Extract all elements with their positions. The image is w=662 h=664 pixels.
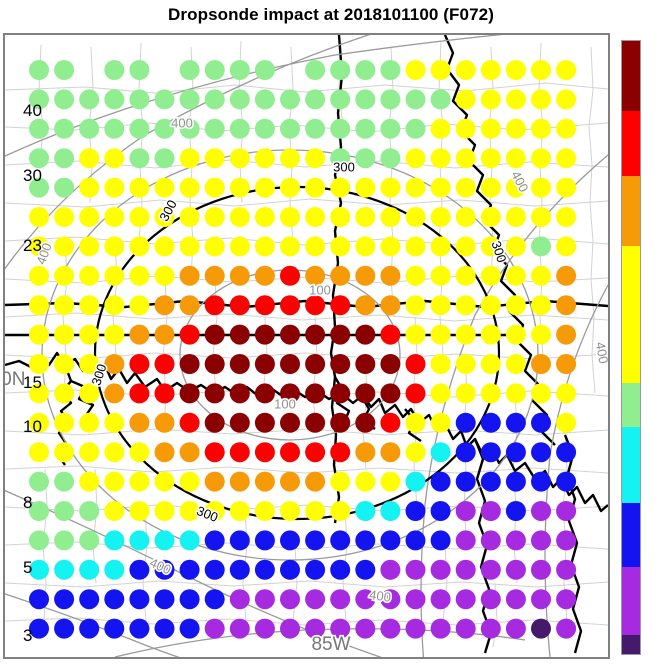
impact-marker[interactable]	[205, 295, 225, 315]
impact-marker[interactable]	[255, 266, 275, 286]
impact-marker[interactable]	[406, 413, 426, 433]
impact-marker[interactable]	[456, 472, 476, 492]
impact-marker[interactable]	[129, 119, 149, 139]
impact-marker[interactable]	[155, 413, 175, 433]
impact-marker[interactable]	[54, 60, 74, 80]
impact-marker[interactable]	[330, 89, 350, 109]
impact-marker[interactable]	[205, 530, 225, 550]
impact-marker[interactable]	[104, 236, 124, 256]
impact-marker[interactable]	[280, 619, 300, 639]
impact-marker[interactable]	[380, 89, 400, 109]
impact-marker[interactable]	[54, 89, 74, 109]
impact-marker[interactable]	[54, 619, 74, 639]
impact-marker[interactable]	[406, 236, 426, 256]
impact-marker[interactable]	[230, 119, 250, 139]
impact-marker[interactable]	[29, 530, 49, 550]
impact-marker[interactable]	[380, 148, 400, 168]
impact-marker[interactable]	[330, 295, 350, 315]
impact-marker[interactable]	[280, 119, 300, 139]
impact-marker[interactable]	[230, 295, 250, 315]
impact-marker[interactable]	[230, 413, 250, 433]
impact-marker[interactable]	[330, 501, 350, 521]
impact-marker[interactable]	[506, 266, 526, 286]
impact-marker[interactable]	[556, 383, 576, 403]
impact-marker[interactable]	[456, 207, 476, 227]
impact-marker[interactable]	[406, 530, 426, 550]
impact-marker[interactable]	[481, 442, 501, 462]
impact-marker[interactable]	[255, 89, 275, 109]
impact-marker[interactable]	[280, 178, 300, 198]
impact-marker[interactable]	[556, 413, 576, 433]
impact-marker[interactable]	[506, 354, 526, 374]
impact-marker[interactable]	[104, 89, 124, 109]
impact-marker[interactable]	[330, 207, 350, 227]
impact-marker[interactable]	[456, 295, 476, 315]
impact-marker[interactable]	[255, 325, 275, 345]
impact-marker[interactable]	[431, 383, 451, 403]
impact-marker[interactable]	[456, 236, 476, 256]
impact-marker[interactable]	[481, 178, 501, 198]
impact-marker[interactable]	[230, 178, 250, 198]
impact-marker[interactable]	[531, 266, 551, 286]
impact-marker[interactable]	[556, 89, 576, 109]
impact-marker[interactable]	[255, 530, 275, 550]
impact-marker[interactable]	[29, 589, 49, 609]
impact-marker[interactable]	[54, 589, 74, 609]
impact-marker[interactable]	[406, 589, 426, 609]
impact-marker[interactable]	[54, 178, 74, 198]
impact-marker[interactable]	[481, 589, 501, 609]
impact-marker[interactable]	[79, 530, 99, 550]
impact-marker[interactable]	[506, 89, 526, 109]
impact-marker[interactable]	[79, 207, 99, 227]
impact-marker[interactable]	[456, 589, 476, 609]
impact-marker[interactable]	[230, 89, 250, 109]
impact-marker[interactable]	[456, 501, 476, 521]
impact-marker[interactable]	[104, 619, 124, 639]
impact-marker[interactable]	[205, 148, 225, 168]
impact-marker[interactable]	[54, 354, 74, 374]
impact-marker[interactable]	[155, 589, 175, 609]
impact-marker[interactable]	[230, 619, 250, 639]
impact-marker[interactable]	[481, 148, 501, 168]
impact-marker[interactable]	[506, 619, 526, 639]
impact-marker[interactable]	[406, 442, 426, 462]
impact-marker[interactable]	[456, 442, 476, 462]
impact-marker[interactable]	[556, 472, 576, 492]
impact-marker[interactable]	[355, 530, 375, 550]
impact-marker[interactable]	[531, 60, 551, 80]
impact-marker[interactable]	[205, 266, 225, 286]
impact-marker[interactable]	[506, 295, 526, 315]
impact-marker[interactable]	[205, 354, 225, 374]
impact-marker[interactable]	[406, 207, 426, 227]
impact-marker[interactable]	[556, 501, 576, 521]
impact-marker[interactable]	[531, 354, 551, 374]
impact-marker[interactable]	[205, 119, 225, 139]
impact-marker[interactable]	[506, 383, 526, 403]
impact-marker[interactable]	[79, 325, 99, 345]
impact-marker[interactable]	[330, 325, 350, 345]
impact-marker[interactable]	[155, 442, 175, 462]
impact-marker[interactable]	[456, 560, 476, 580]
impact-marker[interactable]	[481, 619, 501, 639]
impact-marker[interactable]	[305, 207, 325, 227]
impact-marker[interactable]	[180, 560, 200, 580]
impact-marker[interactable]	[280, 148, 300, 168]
impact-marker[interactable]	[54, 148, 74, 168]
impact-marker[interactable]	[79, 472, 99, 492]
impact-marker[interactable]	[506, 148, 526, 168]
impact-marker[interactable]	[380, 119, 400, 139]
impact-marker[interactable]	[406, 295, 426, 315]
impact-marker[interactable]	[305, 383, 325, 403]
impact-marker[interactable]	[79, 383, 99, 403]
impact-marker[interactable]	[255, 207, 275, 227]
impact-marker[interactable]	[330, 442, 350, 462]
impact-marker[interactable]	[355, 413, 375, 433]
impact-marker[interactable]	[79, 266, 99, 286]
impact-marker[interactable]	[481, 383, 501, 403]
impact-marker[interactable]	[255, 119, 275, 139]
impact-marker[interactable]	[255, 236, 275, 256]
impact-marker[interactable]	[280, 442, 300, 462]
impact-marker[interactable]	[230, 207, 250, 227]
impact-marker[interactable]	[330, 560, 350, 580]
impact-marker[interactable]	[205, 560, 225, 580]
impact-marker[interactable]	[406, 148, 426, 168]
impact-marker[interactable]	[506, 472, 526, 492]
impact-marker[interactable]	[104, 413, 124, 433]
impact-marker[interactable]	[481, 530, 501, 550]
impact-marker[interactable]	[481, 60, 501, 80]
impact-marker[interactable]	[380, 178, 400, 198]
impact-marker[interactable]	[506, 207, 526, 227]
impact-marker[interactable]	[305, 325, 325, 345]
impact-marker[interactable]	[104, 178, 124, 198]
impact-marker[interactable]	[355, 383, 375, 403]
impact-marker[interactable]	[380, 472, 400, 492]
impact-marker[interactable]	[155, 354, 175, 374]
impact-marker[interactable]	[531, 589, 551, 609]
impact-marker[interactable]	[255, 354, 275, 374]
impact-marker[interactable]	[431, 619, 451, 639]
impact-marker[interactable]	[406, 60, 426, 80]
impact-marker[interactable]	[155, 236, 175, 256]
impact-marker[interactable]	[230, 325, 250, 345]
impact-marker[interactable]	[406, 325, 426, 345]
impact-marker[interactable]	[255, 619, 275, 639]
impact-marker[interactable]	[531, 530, 551, 550]
impact-marker[interactable]	[129, 236, 149, 256]
impact-marker[interactable]	[431, 442, 451, 462]
impact-marker[interactable]	[556, 589, 576, 609]
impact-marker[interactable]	[155, 89, 175, 109]
impact-marker[interactable]	[230, 60, 250, 80]
impact-marker[interactable]	[129, 383, 149, 403]
impact-marker[interactable]	[556, 178, 576, 198]
impact-marker[interactable]	[380, 560, 400, 580]
impact-marker[interactable]	[531, 501, 551, 521]
impact-marker[interactable]	[431, 207, 451, 227]
impact-marker[interactable]	[481, 89, 501, 109]
impact-marker[interactable]	[230, 354, 250, 374]
impact-marker[interactable]	[230, 383, 250, 403]
impact-marker[interactable]	[305, 560, 325, 580]
impact-marker[interactable]	[431, 413, 451, 433]
impact-marker[interactable]	[155, 472, 175, 492]
impact-marker[interactable]	[129, 89, 149, 109]
impact-marker[interactable]	[54, 472, 74, 492]
impact-marker[interactable]	[155, 295, 175, 315]
impact-marker[interactable]	[531, 472, 551, 492]
impact-marker[interactable]	[230, 236, 250, 256]
impact-marker[interactable]	[104, 383, 124, 403]
impact-marker[interactable]	[431, 148, 451, 168]
impact-marker[interactable]	[280, 589, 300, 609]
impact-marker[interactable]	[531, 413, 551, 433]
impact-marker[interactable]	[180, 383, 200, 403]
impact-marker[interactable]	[531, 383, 551, 403]
impact-marker[interactable]	[305, 442, 325, 462]
impact-marker[interactable]	[305, 89, 325, 109]
impact-marker[interactable]	[280, 207, 300, 227]
impact-marker[interactable]	[180, 619, 200, 639]
impact-marker[interactable]	[104, 148, 124, 168]
impact-marker[interactable]	[556, 207, 576, 227]
impact-marker[interactable]	[330, 266, 350, 286]
impact-marker[interactable]	[456, 266, 476, 286]
impact-marker[interactable]	[556, 530, 576, 550]
impact-marker[interactable]	[79, 89, 99, 109]
impact-marker[interactable]	[104, 560, 124, 580]
impact-marker[interactable]	[54, 266, 74, 286]
impact-marker[interactable]	[305, 354, 325, 374]
impact-marker[interactable]	[556, 442, 576, 462]
impact-marker[interactable]	[531, 325, 551, 345]
impact-marker[interactable]	[155, 530, 175, 550]
impact-marker[interactable]	[54, 413, 74, 433]
impact-marker[interactable]	[406, 266, 426, 286]
impact-marker[interactable]	[280, 266, 300, 286]
impact-marker[interactable]	[556, 119, 576, 139]
impact-marker[interactable]	[104, 207, 124, 227]
impact-marker[interactable]	[180, 266, 200, 286]
impact-marker[interactable]	[330, 413, 350, 433]
map-plot-area[interactable]: 3003003003003001001004004004004004004003…	[3, 33, 610, 659]
impact-marker[interactable]	[556, 354, 576, 374]
impact-marker[interactable]	[280, 354, 300, 374]
impact-marker[interactable]	[79, 236, 99, 256]
impact-marker[interactable]	[305, 60, 325, 80]
impact-marker[interactable]	[129, 148, 149, 168]
impact-marker[interactable]	[355, 148, 375, 168]
impact-marker[interactable]	[355, 560, 375, 580]
impact-marker[interactable]	[255, 472, 275, 492]
impact-marker[interactable]	[79, 501, 99, 521]
impact-marker[interactable]	[330, 589, 350, 609]
impact-marker[interactable]	[79, 619, 99, 639]
impact-marker[interactable]	[205, 472, 225, 492]
impact-marker[interactable]	[355, 472, 375, 492]
impact-marker[interactable]	[180, 589, 200, 609]
impact-marker[interactable]	[531, 148, 551, 168]
impact-marker[interactable]	[330, 60, 350, 80]
impact-marker[interactable]	[255, 178, 275, 198]
impact-marker[interactable]	[380, 354, 400, 374]
impact-marker[interactable]	[54, 530, 74, 550]
impact-marker[interactable]	[531, 119, 551, 139]
impact-marker[interactable]	[155, 619, 175, 639]
impact-marker[interactable]	[180, 178, 200, 198]
impact-marker[interactable]	[355, 354, 375, 374]
impact-marker[interactable]	[556, 266, 576, 286]
impact-marker[interactable]	[180, 472, 200, 492]
impact-marker[interactable]	[431, 501, 451, 521]
impact-marker[interactable]	[205, 236, 225, 256]
impact-marker[interactable]	[380, 619, 400, 639]
impact-marker[interactable]	[205, 325, 225, 345]
impact-marker[interactable]	[255, 442, 275, 462]
impact-marker[interactable]	[506, 560, 526, 580]
impact-marker[interactable]	[556, 236, 576, 256]
impact-marker[interactable]	[456, 119, 476, 139]
impact-marker[interactable]	[481, 472, 501, 492]
impact-marker[interactable]	[79, 560, 99, 580]
impact-marker[interactable]	[506, 501, 526, 521]
impact-marker[interactable]	[129, 178, 149, 198]
impact-marker[interactable]	[54, 442, 74, 462]
impact-marker[interactable]	[255, 560, 275, 580]
impact-marker[interactable]	[355, 178, 375, 198]
impact-marker[interactable]	[104, 530, 124, 550]
impact-marker[interactable]	[54, 207, 74, 227]
impact-marker[interactable]	[556, 148, 576, 168]
impact-marker[interactable]	[531, 442, 551, 462]
impact-marker[interactable]	[129, 589, 149, 609]
impact-marker[interactable]	[230, 148, 250, 168]
impact-marker[interactable]	[355, 236, 375, 256]
impact-marker[interactable]	[54, 501, 74, 521]
impact-marker[interactable]	[79, 119, 99, 139]
impact-marker[interactable]	[330, 472, 350, 492]
impact-marker[interactable]	[280, 530, 300, 550]
impact-marker[interactable]	[54, 325, 74, 345]
impact-marker[interactable]	[305, 295, 325, 315]
impact-marker[interactable]	[29, 266, 49, 286]
impact-marker[interactable]	[104, 442, 124, 462]
impact-marker[interactable]	[305, 236, 325, 256]
impact-marker[interactable]	[305, 413, 325, 433]
impact-marker[interactable]	[280, 89, 300, 109]
impact-marker[interactable]	[79, 295, 99, 315]
impact-marker[interactable]	[481, 266, 501, 286]
impact-marker[interactable]	[305, 119, 325, 139]
impact-marker[interactable]	[330, 236, 350, 256]
impact-marker[interactable]	[431, 560, 451, 580]
impact-marker[interactable]	[506, 236, 526, 256]
impact-marker[interactable]	[380, 383, 400, 403]
impact-marker[interactable]	[431, 589, 451, 609]
impact-marker[interactable]	[431, 295, 451, 315]
impact-marker[interactable]	[129, 442, 149, 462]
impact-marker[interactable]	[456, 383, 476, 403]
impact-marker[interactable]	[180, 354, 200, 374]
impact-marker[interactable]	[305, 178, 325, 198]
impact-marker[interactable]	[330, 178, 350, 198]
impact-marker[interactable]	[531, 89, 551, 109]
impact-marker[interactable]	[506, 413, 526, 433]
impact-marker[interactable]	[255, 295, 275, 315]
impact-marker[interactable]	[180, 413, 200, 433]
impact-marker[interactable]	[205, 207, 225, 227]
impact-marker[interactable]	[556, 560, 576, 580]
impact-marker[interactable]	[104, 295, 124, 315]
impact-marker[interactable]	[556, 325, 576, 345]
impact-marker[interactable]	[305, 472, 325, 492]
impact-marker[interactable]	[230, 472, 250, 492]
impact-marker[interactable]	[506, 530, 526, 550]
impact-marker[interactable]	[330, 530, 350, 550]
impact-marker[interactable]	[355, 119, 375, 139]
impact-marker[interactable]	[129, 619, 149, 639]
impact-marker[interactable]	[456, 354, 476, 374]
impact-marker[interactable]	[456, 178, 476, 198]
impact-marker[interactable]	[380, 501, 400, 521]
impact-marker[interactable]	[431, 472, 451, 492]
impact-marker[interactable]	[29, 472, 49, 492]
impact-marker[interactable]	[330, 354, 350, 374]
impact-marker[interactable]	[255, 589, 275, 609]
impact-marker[interactable]	[230, 530, 250, 550]
impact-marker[interactable]	[406, 119, 426, 139]
impact-marker[interactable]	[305, 530, 325, 550]
impact-marker[interactable]	[456, 413, 476, 433]
impact-marker[interactable]	[205, 589, 225, 609]
impact-marker[interactable]	[180, 89, 200, 109]
impact-marker[interactable]	[431, 89, 451, 109]
impact-marker[interactable]	[29, 119, 49, 139]
impact-marker[interactable]	[355, 266, 375, 286]
impact-marker[interactable]	[406, 354, 426, 374]
impact-marker[interactable]	[431, 530, 451, 550]
impact-marker[interactable]	[129, 501, 149, 521]
impact-marker[interactable]	[29, 354, 49, 374]
impact-marker[interactable]	[355, 207, 375, 227]
impact-marker[interactable]	[506, 325, 526, 345]
impact-marker[interactable]	[29, 207, 49, 227]
impact-marker[interactable]	[456, 148, 476, 168]
impact-marker[interactable]	[355, 89, 375, 109]
impact-marker[interactable]	[205, 89, 225, 109]
impact-marker[interactable]	[481, 325, 501, 345]
impact-marker[interactable]	[380, 236, 400, 256]
impact-marker[interactable]	[355, 295, 375, 315]
impact-marker[interactable]	[180, 295, 200, 315]
impact-marker[interactable]	[305, 148, 325, 168]
impact-marker[interactable]	[129, 472, 149, 492]
impact-marker[interactable]	[54, 236, 74, 256]
impact-marker[interactable]	[456, 89, 476, 109]
impact-marker[interactable]	[355, 442, 375, 462]
impact-marker[interactable]	[531, 236, 551, 256]
impact-marker[interactable]	[406, 178, 426, 198]
impact-marker[interactable]	[79, 148, 99, 168]
impact-marker[interactable]	[54, 295, 74, 315]
impact-marker[interactable]	[180, 530, 200, 550]
impact-marker[interactable]	[506, 60, 526, 80]
impact-marker[interactable]	[355, 619, 375, 639]
